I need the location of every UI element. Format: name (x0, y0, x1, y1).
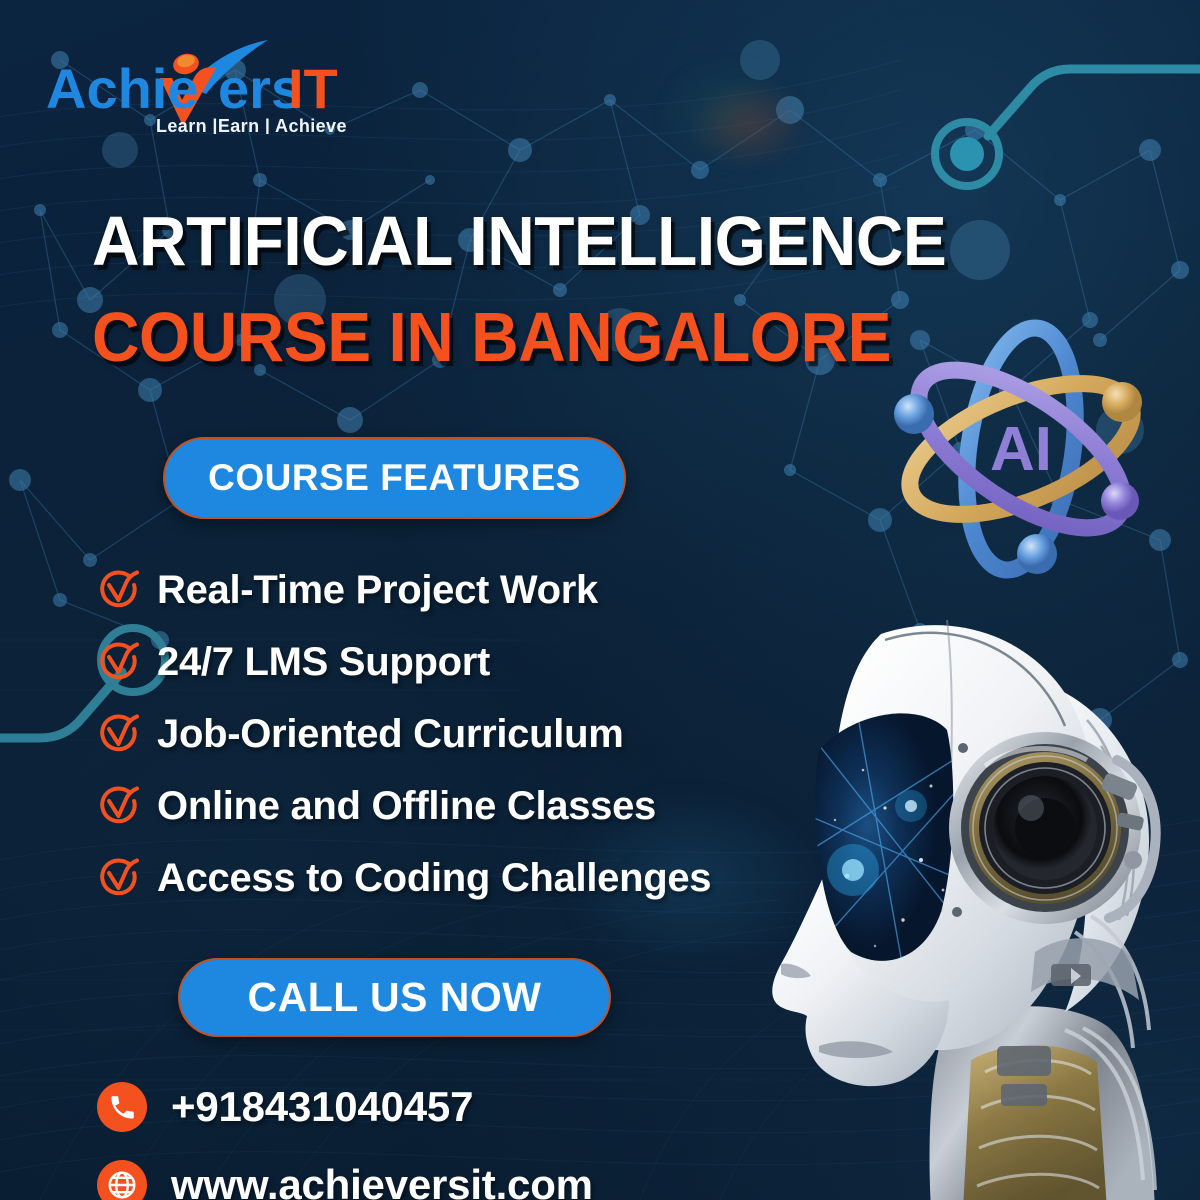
feature-list: Real-Time Project Work 24/7 LMS Support … (95, 556, 825, 916)
list-item-label: 24/7 LMS Support (157, 640, 490, 685)
phone-number: +918431040457 (171, 1083, 473, 1131)
check-circle-icon (95, 711, 141, 757)
list-item: Access to Coding Challenges (95, 844, 825, 912)
page-title: ARTIFICIAL INTELLIGENCE COURSE IN BANGAL… (92, 206, 922, 372)
list-item: Job-Oriented Curriculum (95, 700, 825, 768)
svg-text:IT: IT (288, 57, 338, 120)
list-item: 24/7 LMS Support (95, 628, 825, 696)
list-item-label: Real-Time Project Work (157, 568, 598, 613)
headline-line-1: ARTIFICIAL INTELLIGENCE (92, 206, 872, 276)
contact-list: +918431040457 www.achieversit.com (97, 1073, 593, 1200)
contact-phone[interactable]: +918431040457 (97, 1073, 593, 1141)
check-circle-icon (95, 639, 141, 685)
list-item: Real-Time Project Work (95, 556, 825, 624)
atom-label: AI (990, 415, 1052, 484)
ai-atom-icon: AI (880, 318, 1162, 580)
list-item-label: Access to Coding Challenges (157, 856, 711, 901)
phone-icon (97, 1082, 147, 1132)
call-us-now-button[interactable]: CALL US NOW (178, 958, 611, 1037)
globe-icon (97, 1160, 147, 1200)
headline-line-2: COURSE IN BANGALORE (92, 302, 872, 372)
svg-text:Achie: Achie (46, 57, 199, 120)
website-url: www.achieversit.com (171, 1161, 593, 1200)
check-circle-icon (95, 855, 141, 901)
check-circle-icon (95, 783, 141, 829)
circuit-trace-top-right-icon (910, 36, 1200, 196)
background-glow-red (690, 80, 810, 170)
course-features-badge[interactable]: COURSE FEATURES (163, 437, 626, 519)
poster-canvas: Achie ers IT Learn |Earn | Achieve ARTIF… (0, 0, 1200, 1200)
contact-website[interactable]: www.achieversit.com (97, 1151, 593, 1200)
list-item: Online and Offline Classes (95, 772, 825, 840)
check-circle-icon (95, 567, 141, 613)
list-item-label: Online and Offline Classes (157, 784, 656, 829)
list-item-label: Job-Oriented Curriculum (157, 712, 623, 757)
brand-logo[interactable]: Achie ers IT Learn |Earn | Achieve (40, 34, 360, 134)
svg-text:Learn |Earn | Achieve: Learn |Earn | Achieve (156, 116, 347, 134)
